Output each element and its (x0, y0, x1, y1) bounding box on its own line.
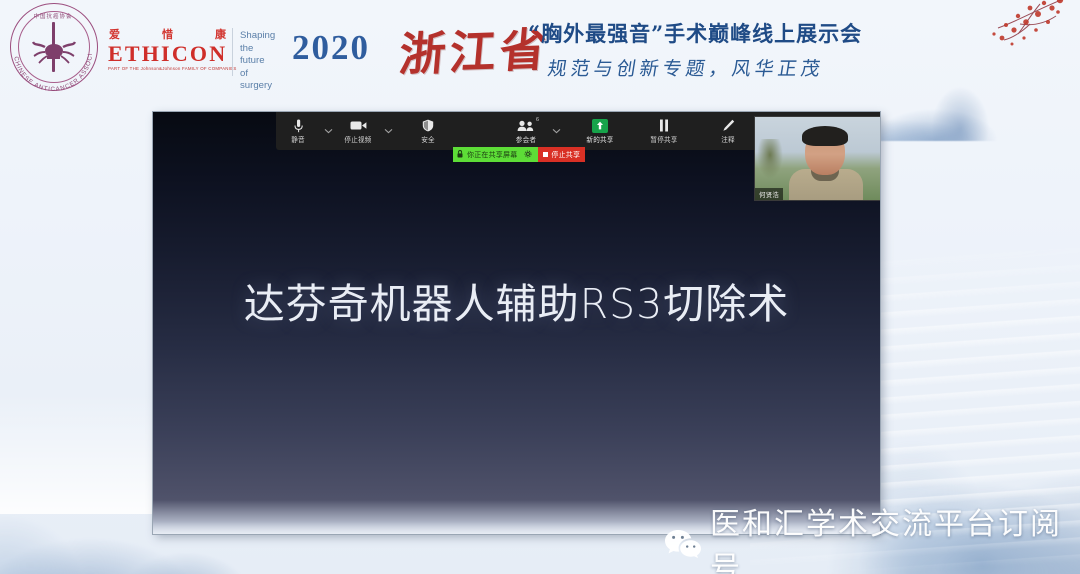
stop-share-button[interactable]: 停止共享 (538, 147, 585, 162)
toolbar-label-mute: 静音 (291, 134, 305, 144)
lock-icon (457, 150, 463, 160)
tagline-line-2: the future (240, 43, 280, 68)
event-title-secondary: 规范与创新专题，风华正茂 (546, 54, 826, 81)
sharing-indicator: 你正在共享屏幕 (453, 147, 538, 162)
stop-square-icon (543, 152, 548, 157)
video-tree-scenery (757, 139, 783, 179)
sharing-status-text: 你正在共享屏幕 (467, 150, 517, 160)
watermark-text: 医和汇学术交流平台订阅号 (710, 499, 1080, 574)
pencil-icon (722, 118, 735, 133)
event-title-primary: “胸外最强音”手术巅峰线上展示会 (528, 18, 862, 48)
pause-icon (659, 118, 669, 133)
video-chevron-down-icon[interactable] (380, 112, 396, 150)
presentation-page: CHINESE ANTICANCER ASSOCIATION 中国抗癌协会 爱 … (0, 0, 1080, 574)
toolbar-button-participants[interactable]: 6 参会者 (504, 112, 548, 150)
mute-chevron-down-icon[interactable] (320, 112, 336, 150)
participant-hair (802, 126, 848, 146)
shared-screen-frame: 达芬奇机器人辅助RS3切除术 静音 (153, 112, 880, 534)
wechat-watermark: 医和汇学术交流平台订阅号 (664, 499, 1080, 574)
shield-icon (422, 118, 434, 133)
logo-chinese-label: 中国抗癌协会 (4, 12, 102, 20)
toolbar-button-pause-share[interactable]: 暂停共享 (642, 112, 686, 150)
stop-share-label: 停止共享 (551, 150, 580, 160)
gear-icon[interactable] (524, 150, 532, 160)
toolbar-button-security[interactable]: 安全 (406, 112, 450, 150)
participants-chevron-down-icon[interactable] (548, 112, 564, 150)
tagline-line-1: Shaping (240, 30, 280, 43)
microphone-icon (294, 118, 303, 133)
participant-name-label: 何贤浩 (755, 188, 783, 200)
tagline-line-3: of surgery (240, 68, 280, 93)
toolbar-label-security: 安全 (421, 134, 435, 144)
self-view-video-tile[interactable]: 何贤浩 (754, 116, 880, 201)
video-camera-icon (350, 118, 367, 133)
toolbar-label-annotate: 注释 (721, 134, 735, 144)
screen-share-status-bar: 你正在共享屏幕 停止共享 (453, 147, 585, 162)
participant-avatar-video (793, 129, 859, 201)
toolbar-button-stop-video[interactable]: 停止视频 (336, 112, 380, 150)
toolbar-button-mute[interactable]: 静音 (276, 112, 320, 150)
toolbar-button-new-share[interactable]: 新的共享 (578, 112, 622, 150)
toolbar-label-participants: 参会者 (516, 134, 536, 144)
share-screen-icon (592, 118, 608, 133)
toolbar-button-annotate[interactable]: 注释 (706, 112, 750, 150)
eth-char-2: 惜 (162, 26, 173, 42)
slide-title: 达芬奇机器人辅助RS3切除术 (153, 270, 880, 330)
event-year: 2020 (292, 28, 370, 68)
participants-icon (517, 118, 535, 133)
wechat-icon (664, 528, 702, 558)
eth-char-3: 康 (215, 26, 226, 42)
toolbar-label-stop-video: 停止视频 (344, 134, 371, 144)
eth-char-1: 爱 (109, 26, 120, 42)
toolbar-label-new-share: 新的共享 (586, 134, 613, 144)
ethicon-logo: 爱 惜 康 ETHICON PART OF THE Johnson&Johnso… (108, 26, 280, 80)
toolbar-label-pause-share: 暂停共享 (650, 134, 677, 144)
ethicon-tagline: Shaping the future of surgery (240, 30, 280, 93)
event-header: CHINESE ANTICANCER ASSOCIATION 中国抗癌协会 爱 … (0, 0, 1080, 104)
chinese-anticancer-association-logo: CHINESE ANTICANCER ASSOCIATION 中国抗癌协会 (4, 0, 102, 100)
participants-count-badge: 6 (536, 117, 539, 123)
ethicon-divider (232, 28, 233, 76)
